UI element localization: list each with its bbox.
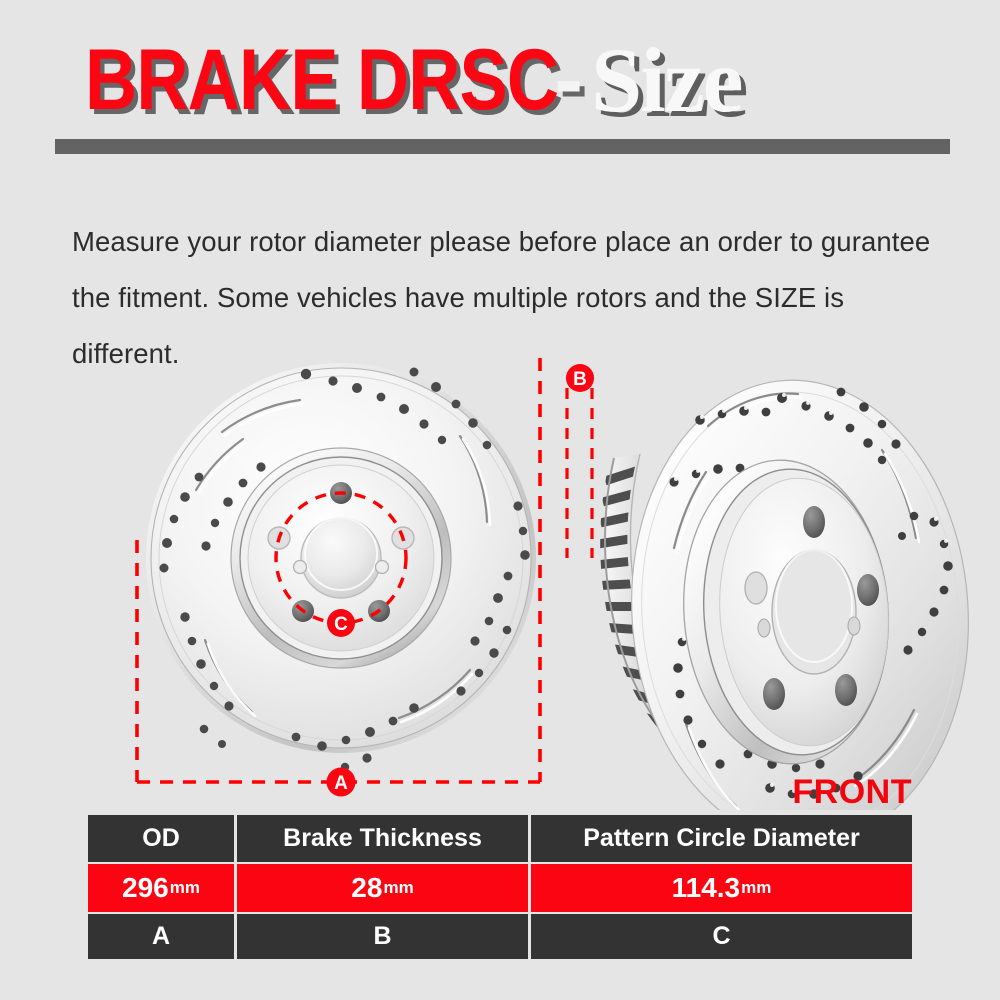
- title-sub-text: Size: [591, 34, 741, 126]
- spec-value-od-unit: mm: [170, 878, 200, 898]
- marker-b-thickness: [567, 388, 592, 558]
- header-banner: BRAKE DRSC - Size: [0, 0, 1000, 160]
- spec-value-brake-thickness: 28 mm: [237, 864, 528, 912]
- spec-value-od: 296 mm: [88, 864, 234, 912]
- spec-value-pattern-circle-diameter: 114.3 mm: [531, 864, 912, 912]
- header-divider-bar: [55, 139, 950, 154]
- spec-value-pcd-unit: mm: [741, 878, 771, 898]
- left-rotor-face-view: C A: [137, 358, 540, 797]
- spec-value-thickness-number: 28: [351, 872, 382, 904]
- spec-table-key-row: A B C: [88, 914, 912, 959]
- spec-header-pattern-circle-diameter: Pattern Circle Diameter: [531, 815, 912, 862]
- spec-header-od: OD: [88, 815, 234, 862]
- spec-value-thickness-unit: mm: [383, 878, 413, 898]
- marker-c-badge: C: [327, 609, 355, 637]
- page-title: BRAKE DRSC - Size: [85, 30, 741, 130]
- title-separator-dash: -: [554, 37, 583, 123]
- spec-table-value-row: 296 mm 28 mm 114.3 mm: [88, 864, 912, 912]
- marker-b-badge: B: [566, 364, 594, 392]
- spec-value-od-number: 296: [122, 872, 169, 904]
- svg-text:B: B: [573, 369, 587, 390]
- spec-key-a: A: [88, 914, 234, 959]
- spec-table: OD Brake Thickness Pattern Circle Diamet…: [88, 815, 912, 959]
- spec-value-pcd-number: 114.3: [672, 872, 741, 904]
- right-rotor-angled-view: [598, 369, 984, 810]
- rotor-diagram: C A: [0, 340, 1000, 810]
- spec-key-c: C: [531, 914, 912, 959]
- svg-text:C: C: [334, 614, 348, 635]
- spec-table-header-row: OD Brake Thickness Pattern Circle Diamet…: [88, 815, 912, 862]
- marker-a-badge: A: [327, 768, 356, 797]
- spec-header-brake-thickness: Brake Thickness: [237, 815, 528, 862]
- title-main-text: BRAKE DRSC: [85, 37, 558, 123]
- front-label: FRONT: [792, 775, 912, 809]
- spec-key-b: B: [237, 914, 528, 959]
- svg-text:A: A: [334, 773, 348, 794]
